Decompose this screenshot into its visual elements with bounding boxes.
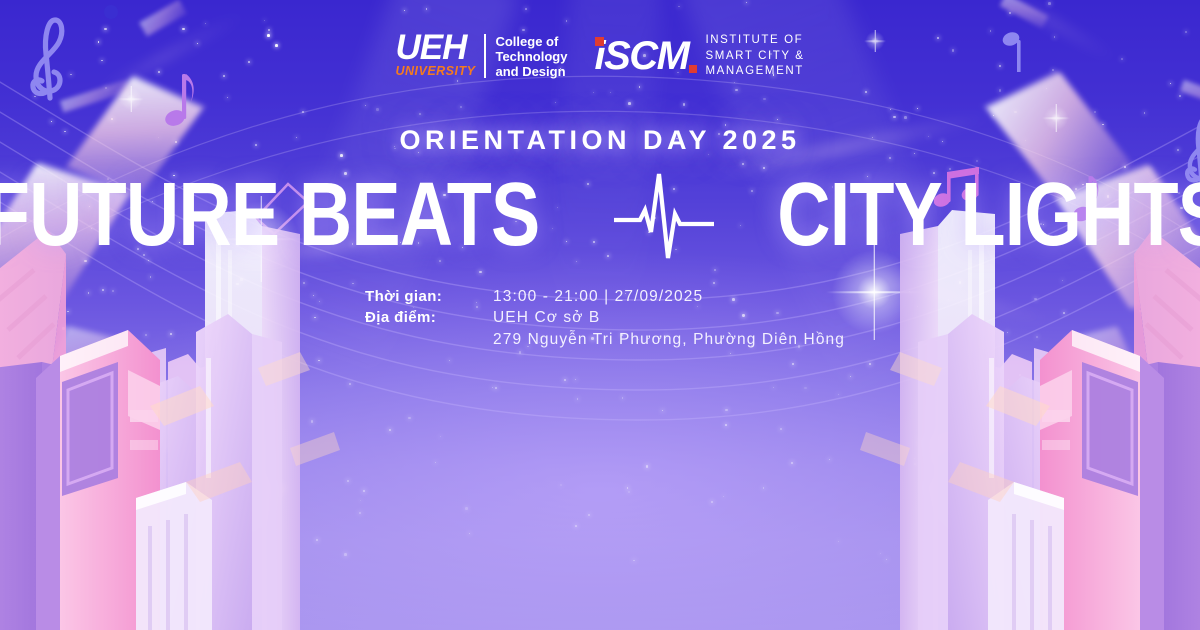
detail-labels: Thời gian: Địa điểm: — [365, 286, 465, 351]
ueh-descriptor-line-2: Technology — [495, 49, 567, 64]
iscm-logo: iSCM INSTITUTE OF SMART CITY & MANAGEMEN… — [594, 33, 804, 80]
label-place: Địa điểm: — [365, 307, 465, 328]
iscm-descriptor-line-2: SMART CITY & — [705, 49, 804, 65]
ueh-wordmark-block: UEH UNIVERSITY — [395, 33, 475, 78]
ueh-wordmark: UEH — [395, 33, 466, 63]
value-place-line-1: UEH Cơ sở B — [493, 307, 845, 329]
event-kicker: ORIENTATION DAY 2025 — [399, 125, 800, 156]
logo-bar: UEH UNIVERSITY College of Technology and… — [395, 33, 804, 80]
detail-values: 13:00 - 21:00 | 27/09/2025 UEH Cơ sở B 2… — [493, 286, 845, 351]
event-headline: FUTURE BEATS CITY LIGHTS — [0, 170, 1200, 262]
headline-right: CITY LIGHTS — [778, 173, 1200, 259]
banner-content: UEH UNIVERSITY College of Technology and… — [0, 0, 1200, 630]
ueh-descriptor: College of Technology and Design — [495, 33, 567, 80]
ueh-university-label: UNIVERSITY — [395, 64, 475, 78]
ueh-descriptor-line-1: College of — [495, 34, 567, 49]
ueh-descriptor-line-3: and Design — [495, 64, 567, 79]
label-time: Thời gian: — [365, 286, 465, 307]
iscm-descriptor: INSTITUTE OF SMART CITY & MANAGEMENT — [705, 33, 804, 80]
pulse-waveform-icon — [614, 170, 714, 262]
value-time: 13:00 - 21:00 | 27/09/2025 — [493, 286, 845, 308]
ueh-logo-divider — [484, 34, 486, 78]
iscm-wordmark: iSCM — [594, 36, 688, 76]
iscm-red-dot-icon — [595, 37, 604, 46]
value-place-line-2: 279 Nguyễn Tri Phương, Phường Diên Hồng — [493, 329, 845, 351]
iscm-wordmark-block: iSCM — [594, 36, 697, 76]
headline-left: FUTURE BEATS — [0, 173, 540, 259]
event-banner: UEH UNIVERSITY College of Technology and… — [0, 0, 1200, 630]
iscm-red-square-icon — [689, 65, 697, 73]
iscm-descriptor-line-1: INSTITUTE OF — [705, 33, 804, 49]
ueh-logo: UEH UNIVERSITY College of Technology and… — [395, 33, 567, 80]
iscm-descriptor-line-3: MANAGEMENT — [705, 64, 804, 80]
event-details: Thời gian: Địa điểm: 13:00 - 21:00 | 27/… — [355, 286, 845, 351]
